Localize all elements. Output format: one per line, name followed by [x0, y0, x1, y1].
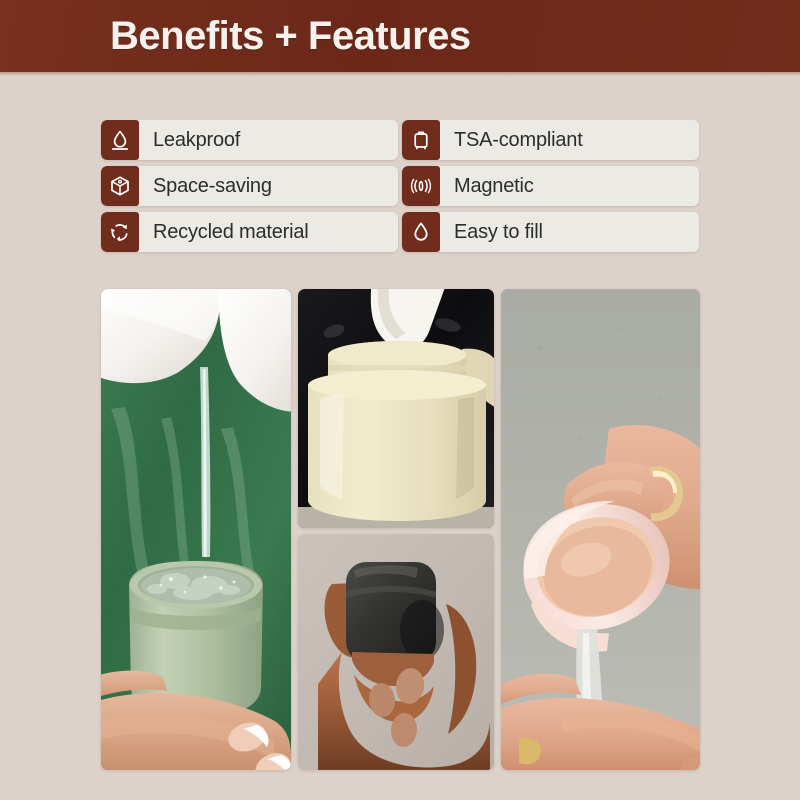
- header-bar: Benefits + Features: [0, 0, 800, 72]
- suitcase-icon: [402, 120, 440, 160]
- header-shadow: [0, 72, 800, 76]
- feature-pill-easy-to-fill: Easy to fill: [402, 212, 699, 252]
- feature-pill-tsa-compliant: TSA-compliant: [402, 120, 699, 160]
- feature-label: Space-saving: [139, 175, 272, 198]
- magnetic-wave-icon: [402, 166, 440, 206]
- photo-gallery: [101, 289, 700, 770]
- water-drop-icon: [101, 120, 139, 160]
- feature-label: Magnetic: [440, 175, 534, 198]
- product-benefits-infographic: Benefits + Features Leakproof: [0, 0, 800, 800]
- feature-label: Leakproof: [139, 129, 240, 152]
- photo-black-jar-in-hand: [298, 534, 494, 770]
- photo-pouring-into-green-jar: [101, 289, 291, 770]
- recycle-icon: [101, 212, 139, 252]
- feature-pill-recycled-material: Recycled material: [101, 212, 398, 252]
- feature-pill-magnetic: Magnetic: [402, 166, 699, 206]
- photo-pink-jar-pouring-gel: [501, 289, 700, 770]
- droplet-icon: [402, 212, 440, 252]
- feature-pill-leakproof: Leakproof: [101, 120, 398, 160]
- cube-box-icon: [101, 166, 139, 206]
- photo-cream-jar-dark-background: [298, 289, 494, 528]
- feature-list: Leakproof TSA-compliant: [101, 120, 699, 252]
- feature-label: Easy to fill: [440, 221, 543, 244]
- feature-pill-space-saving: Space-saving: [101, 166, 398, 206]
- feature-label: Recycled material: [139, 221, 309, 244]
- page-title: Benefits + Features: [110, 16, 471, 56]
- feature-label: TSA-compliant: [440, 129, 583, 152]
